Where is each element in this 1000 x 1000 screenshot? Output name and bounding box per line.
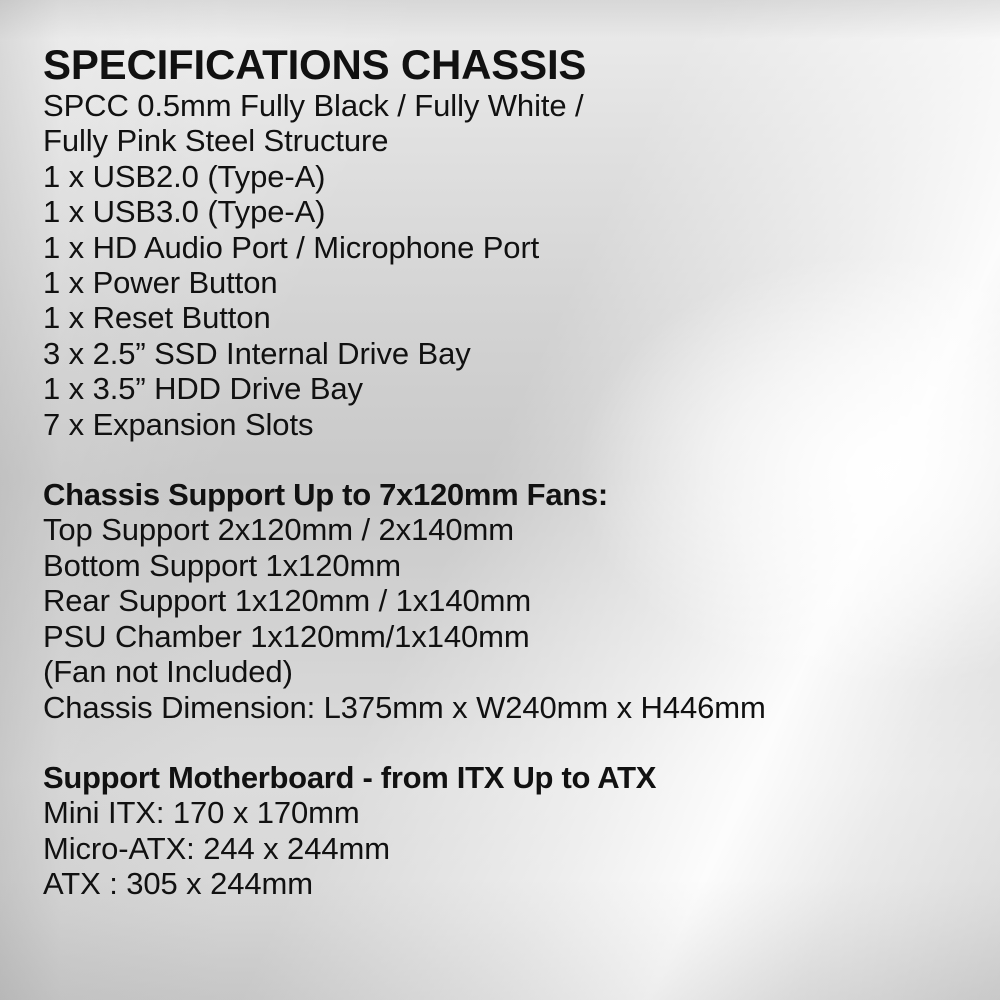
section-spacer [43, 725, 973, 760]
spec-line: 1 x USB2.0 (Type-A) [43, 159, 973, 194]
specification-content: SPECIFICATIONS CHASSIS SPCC 0.5mm Fully … [43, 42, 973, 902]
spec-line: 1 x Power Button [43, 265, 973, 300]
spec-line: Bottom Support 1x120mm [43, 548, 973, 583]
page-title: SPECIFICATIONS CHASSIS [43, 42, 973, 87]
spec-line: 1 x Reset Button [43, 300, 973, 335]
spec-line: Mini ITX: 170 x 170mm [43, 795, 973, 830]
spec-line: 7 x Expansion Slots [43, 407, 973, 442]
spec-line: 1 x USB3.0 (Type-A) [43, 194, 973, 229]
spec-line: Fully Pink Steel Structure [43, 123, 973, 158]
spec-line: 1 x 3.5” HDD Drive Bay [43, 371, 973, 406]
section-spacer [43, 442, 973, 477]
spec-line: 1 x HD Audio Port / Microphone Port [43, 230, 973, 265]
spec-line: Chassis Dimension: L375mm x W240mm x H44… [43, 690, 973, 725]
section-motherboard-support: Support Motherboard - from ITX Up to ATX… [43, 760, 973, 902]
spec-line: PSU Chamber 1x120mm/1x140mm [43, 619, 973, 654]
section-chassis-specs: SPCC 0.5mm Fully Black / Fully White / F… [43, 88, 973, 442]
spec-line: 3 x 2.5” SSD Internal Drive Bay [43, 336, 973, 371]
specification-sheet: SPECIFICATIONS CHASSIS SPCC 0.5mm Fully … [0, 0, 1000, 1000]
spec-line: ATX : 305 x 244mm [43, 866, 973, 901]
spec-line: Micro-ATX: 244 x 244mm [43, 831, 973, 866]
spec-line: Rear Support 1x120mm / 1x140mm [43, 583, 973, 618]
spec-line: Top Support 2x120mm / 2x140mm [43, 512, 973, 547]
section-heading: Chassis Support Up to 7x120mm Fans: [43, 477, 973, 512]
section-heading: Support Motherboard - from ITX Up to ATX [43, 760, 973, 795]
spec-line: (Fan not Included) [43, 654, 973, 689]
spec-line: SPCC 0.5mm Fully Black / Fully White / [43, 88, 973, 123]
section-fan-support: Chassis Support Up to 7x120mm Fans: Top … [43, 477, 973, 725]
